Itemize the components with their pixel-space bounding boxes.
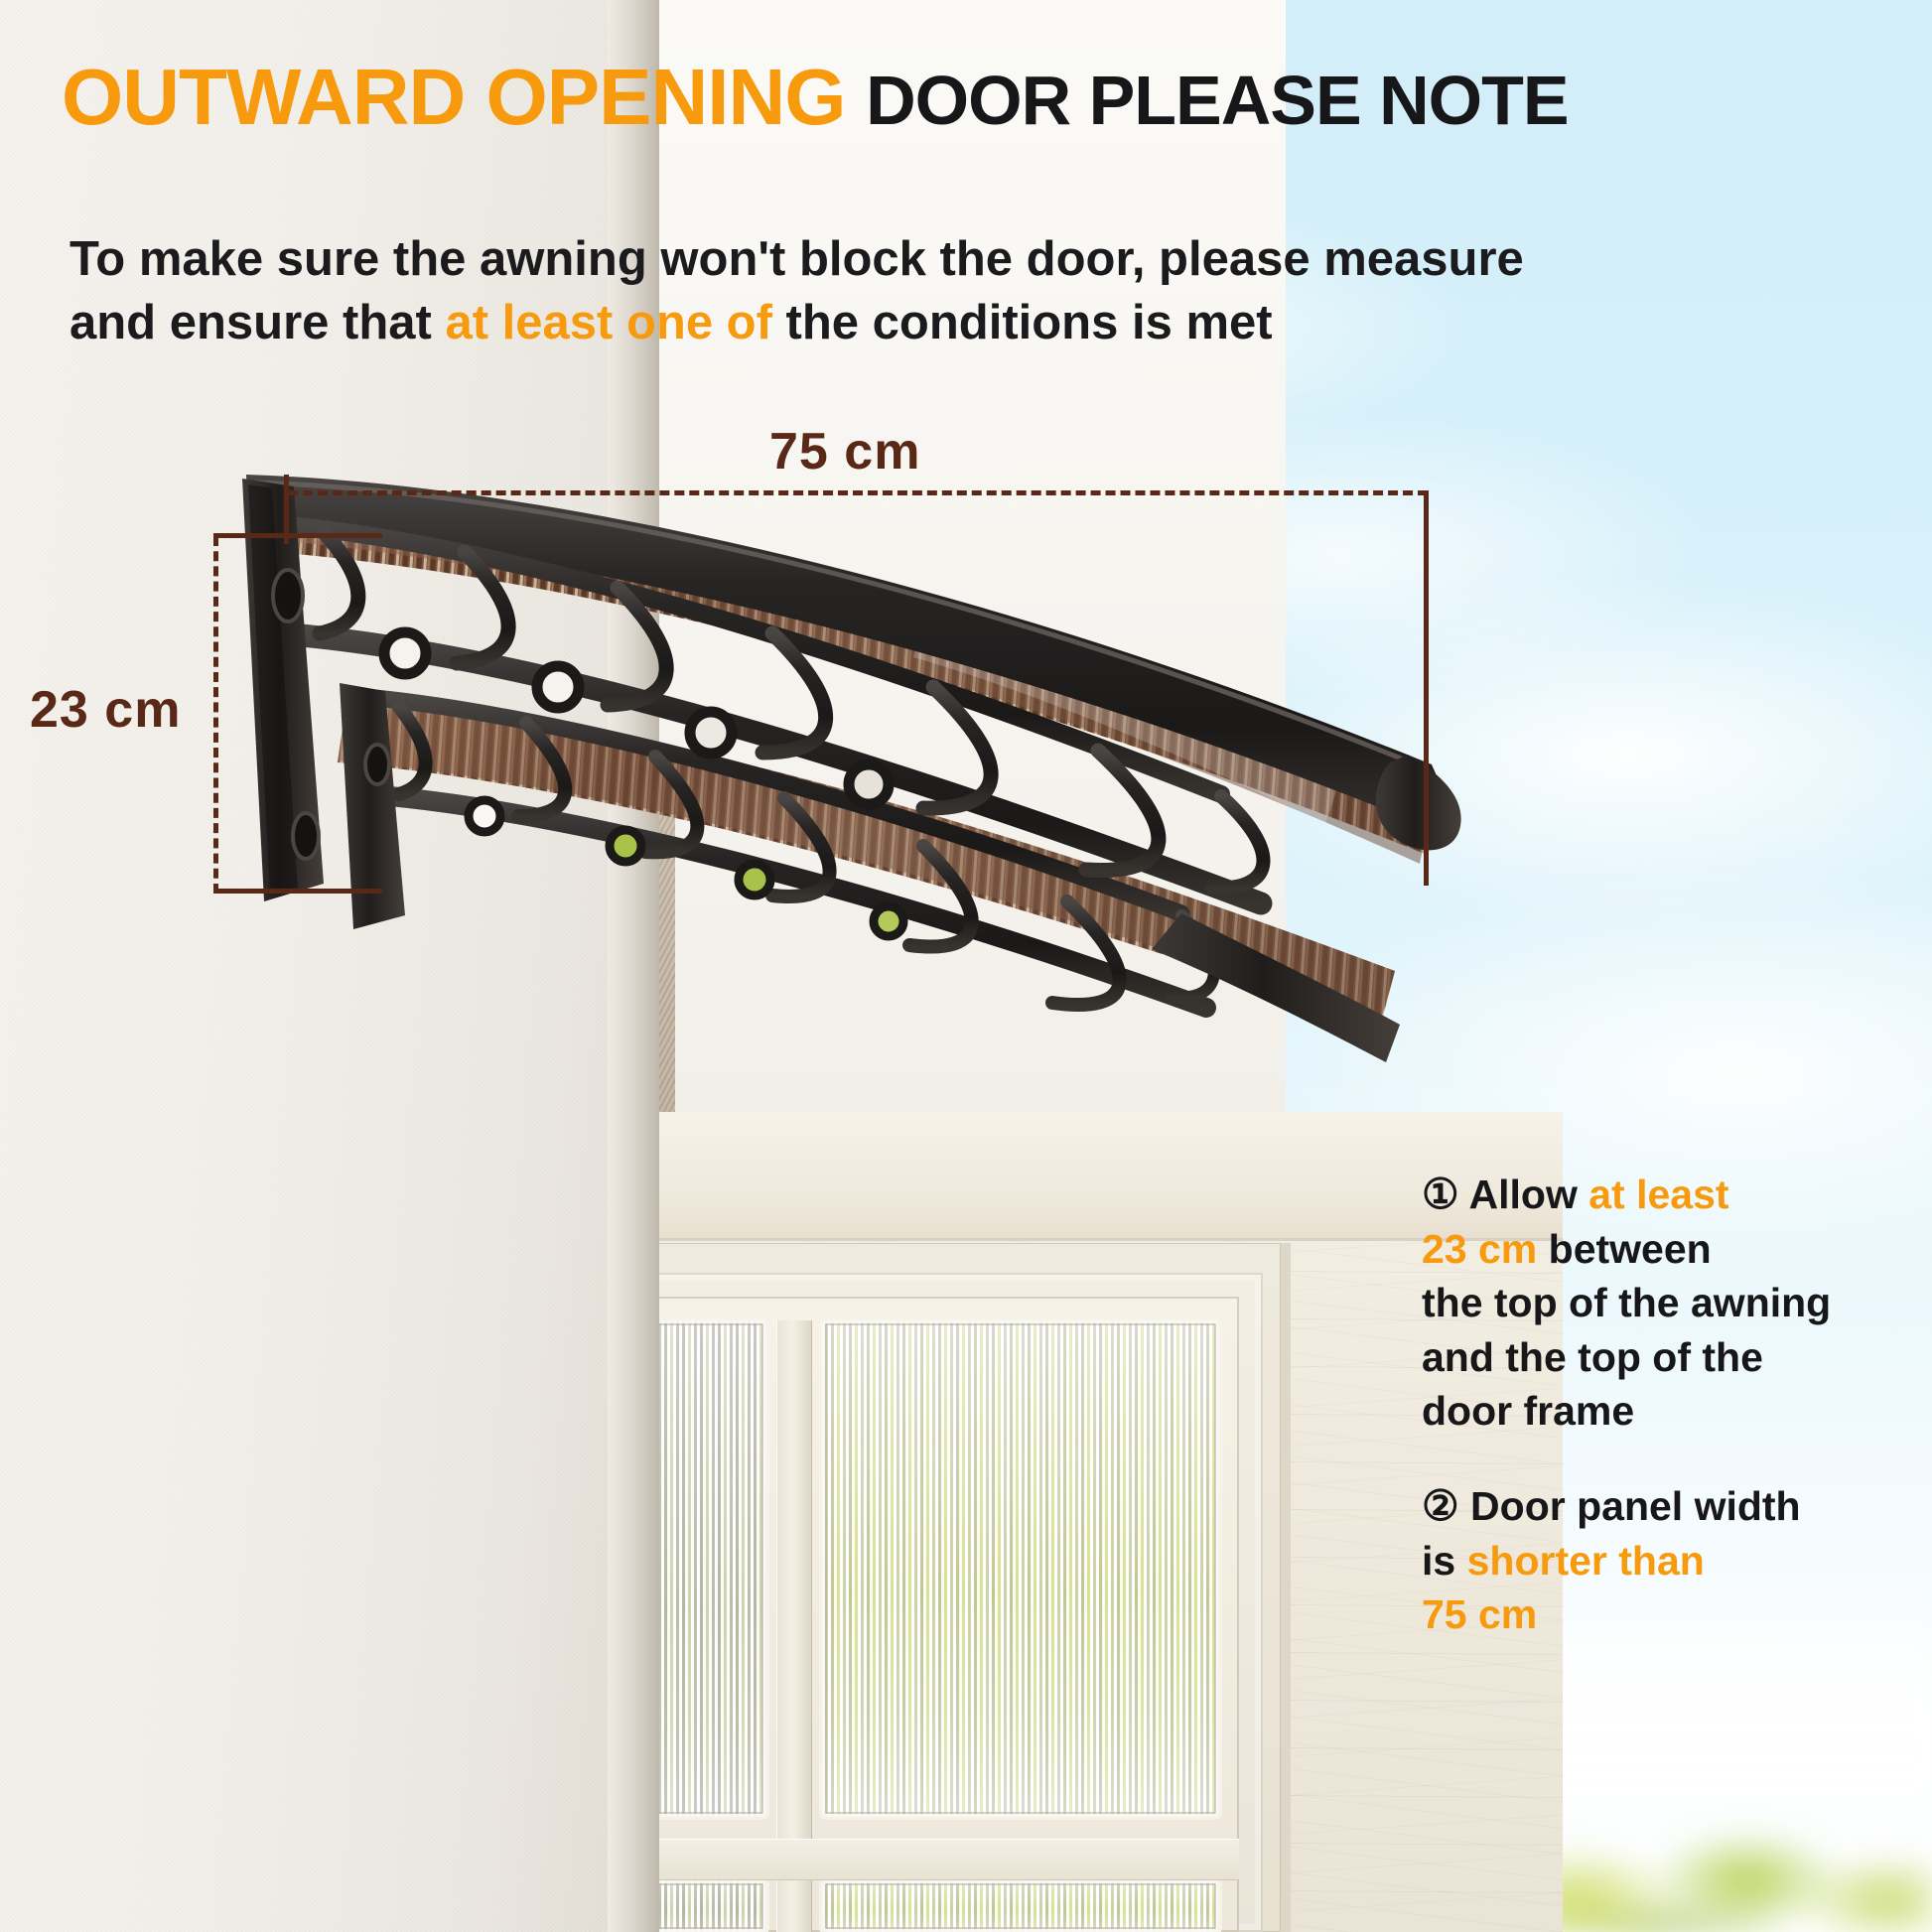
circled-number-2-icon: ② [1422, 1482, 1459, 1529]
subtitle-line2-accent: at least one of [445, 296, 771, 349]
subtitle-line2-post: the conditions is met [772, 296, 1273, 349]
dimension-label-width: 75 cm [769, 422, 920, 482]
condition-2-accent-1: shorter than [1467, 1538, 1705, 1584]
door-glass-panel-right-upper [822, 1320, 1219, 1817]
dimension-line-height [213, 536, 218, 894]
condition-1-seg2: between [1537, 1226, 1711, 1272]
subtitle-line2-pre: and ensure that [69, 296, 445, 349]
door-canopy-awning [228, 467, 1469, 1102]
condition-1-line-4: and the top of the [1422, 1330, 1928, 1385]
subtitle-line-2: and ensure that at least one of the cond… [69, 292, 1817, 355]
condition-2-line-1: ② Door panel width [1422, 1478, 1928, 1534]
headline-rest: DOOR PLEASE NOTE [866, 62, 1568, 139]
condition-2-line-3: 75 cm [1422, 1587, 1928, 1642]
subtitle: To make sure the awning won't block the … [69, 228, 1817, 354]
condition-2-seg1: Door panel width [1459, 1483, 1801, 1529]
condition-1-seg1: Allow [1459, 1172, 1589, 1217]
condition-2-seg2: is [1422, 1538, 1467, 1584]
condition-1-line-3: the top of the awning [1422, 1276, 1928, 1330]
condition-item-2: ② Door panel width is shorter than 75 cm [1422, 1478, 1928, 1642]
dimension-leader-right [1424, 490, 1429, 886]
condition-1-line-1: ① Allow at least [1422, 1167, 1928, 1222]
circled-number-1-icon: ① [1422, 1171, 1459, 1217]
page-title: OUTWARD OPENING DOOR PLEASE NOTE [62, 56, 1888, 139]
headline-emphasis: OUTWARD OPENING [62, 53, 845, 141]
conditions-list: ① Allow at least 23 cm between the top o… [1422, 1167, 1928, 1682]
dimension-cap-bottom [213, 889, 382, 894]
dimension-cap-top [213, 533, 382, 538]
condition-1-accent-1: at least [1588, 1172, 1728, 1217]
condition-1-line-5: door frame [1422, 1384, 1928, 1439]
dimension-label-height: 23 cm [30, 680, 181, 740]
condition-2-line-2: is shorter than [1422, 1534, 1928, 1588]
condition-1-accent-2: 23 cm [1422, 1226, 1537, 1272]
condition-1-line-2: 23 cm between [1422, 1222, 1928, 1277]
subtitle-line-1: To make sure the awning won't block the … [69, 228, 1817, 292]
dimension-line-width [288, 490, 1428, 495]
condition-item-1: ① Allow at least 23 cm between the top o… [1422, 1167, 1928, 1439]
door-glass-panel-right-lower [822, 1880, 1219, 1932]
